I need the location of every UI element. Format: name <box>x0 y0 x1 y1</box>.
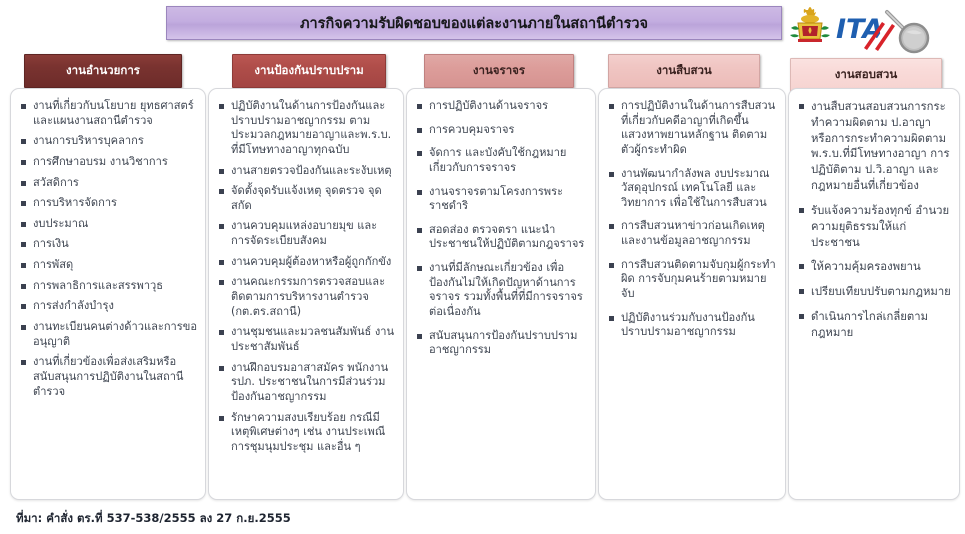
magnifying-glass-icon <box>887 12 928 52</box>
list-item: งานที่เกี่ยวข้องเพื่อส่งเสริมหรือสนับสนุ… <box>19 355 197 399</box>
column-header-inquiry: งานสอบสวน <box>790 58 942 92</box>
list-item: งานสืบสวนสอบสวนการกระทำความผิดตาม ป.อาญา… <box>797 99 951 194</box>
list-item: สนับสนุนการป้องกันปราบปรามอาชญากรรม <box>415 329 587 358</box>
list-item: งานควบคุมผู้ต้องหาหรือผู้ถูกกักขัง <box>217 255 395 270</box>
responsibility-list: การปฏิบัติงานในด้านการสืบสวนที่เกี่ยวกับ… <box>599 89 785 357</box>
list-item: งานพัฒนากำลังพล งบประมาณ วัสดุอุปกรณ์ เท… <box>607 167 777 211</box>
column-body-administration: งานที่เกี่ยวกับนโยบาย ยุทธศาสตร์และแผนงา… <box>10 88 206 500</box>
list-item: ปฏิบัติงานในด้านการป้องกันและปราบปรามอาช… <box>217 99 395 158</box>
list-item: สวัสดิการ <box>19 176 197 191</box>
responsibility-list: การปฏิบัติงานด้านจราจรการควบคุมจราจรจัดก… <box>407 89 595 375</box>
list-item: การปฏิบัติงานในด้านการสืบสวนที่เกี่ยวกับ… <box>607 99 777 158</box>
column-header-label: งานอำนวยการ <box>66 62 140 80</box>
page-title: ภารกิจความรับผิดชอบของแต่ละงานภายในสถานี… <box>300 12 648 35</box>
list-item: งานฝึกอบรมอาสาสมัคร พนักงาน รปภ. ประชาชน… <box>217 361 395 405</box>
responsibility-list: ปฏิบัติงานในด้านการป้องกันและปราบปรามอาช… <box>209 89 403 468</box>
list-item: การศึกษาอบรม งานวิชาการ <box>19 155 197 170</box>
list-item: การพัสดุ <box>19 258 197 273</box>
list-item: งานที่เกี่ยวกับนโยบาย ยุทธศาสตร์และแผนงา… <box>19 99 197 128</box>
thai-royal-crest-icon <box>790 7 830 42</box>
list-item: งบประมาณ <box>19 217 197 232</box>
list-item: งานการบริหารบุคลากร <box>19 134 197 149</box>
list-item: งานควบคุมแหล่งอบายมุข และการจัดระเบียบสั… <box>217 219 395 248</box>
column-header-label: งานสืบสวน <box>656 62 712 80</box>
list-item: รับแจ้งความร้องทุกข์ อำนวยความยุติธรรมให… <box>797 203 951 250</box>
list-item: งานสายตรวจป้องกันและระงับเหตุ <box>217 164 395 179</box>
list-item: ปฏิบัติงานร่วมกับงานป้องกันปราบปรามอาชญา… <box>607 311 777 340</box>
list-item: เปรียบเทียบปรับตามกฎหมาย <box>797 284 951 300</box>
list-item: การพลาธิการและสรรพาวุธ <box>19 279 197 294</box>
column-header-traffic: งานจราจร <box>424 54 574 88</box>
list-item: งานที่มีลักษณะเกี่ยวข้อง เพื่อป้องกันไม่… <box>415 261 587 320</box>
list-item: การส่งกำลังบำรุง <box>19 299 197 314</box>
infographic-root: ภารกิจความรับผิดชอบของแต่ละงานภายในสถานี… <box>0 0 965 534</box>
column-header-label: งานป้องกันปราบปราม <box>254 62 363 80</box>
column-body-traffic: การปฏิบัติงานด้านจราจรการควบคุมจราจรจัดก… <box>406 88 596 500</box>
column-body-crime-prevention: ปฏิบัติงานในด้านการป้องกันและปราบปรามอาช… <box>208 88 404 500</box>
list-item: จัดการ และบังคับใช้กฎหมายเกี่ยวกับการจรา… <box>415 146 587 175</box>
list-item: การควบคุมจราจร <box>415 123 587 138</box>
ita-logo: ITA <box>786 2 961 54</box>
list-item: งานจราจรตามโครงการพระราชดำริ <box>415 185 587 214</box>
list-item: การสืบสวนติดตามจับกุมผู้กระทำผิด การจับก… <box>607 258 777 302</box>
column-body-inquiry: งานสืบสวนสอบสวนการกระทำความผิดตาม ป.อาญา… <box>788 88 960 500</box>
source-note: ที่มา: คำสั่ง ตร.ที่ 537-538/2555 ลง 27 … <box>16 510 291 528</box>
list-item: ดำเนินการไกล่เกลี่ยตามกฎหมาย <box>797 309 951 341</box>
column-header-administration: งานอำนวยการ <box>24 54 182 88</box>
responsibility-list: งานที่เกี่ยวกับนโยบาย ยุทธศาสตร์และแผนงา… <box>11 89 205 413</box>
page-title-banner: ภารกิจความรับผิดชอบของแต่ละงานภายในสถานี… <box>166 6 782 40</box>
column-header-label: งานสอบสวน <box>835 66 898 84</box>
list-item: รักษาความสงบเรียบร้อย กรณีมีเหตุพิเศษต่า… <box>217 411 395 455</box>
column-header-label: งานจราจร <box>473 62 525 80</box>
responsibility-list: งานสืบสวนสอบสวนการกระทำความผิดตาม ป.อาญา… <box>789 89 959 358</box>
list-item: จัดตั้งจุดรับแจ้งเหตุ จุดตรวจ จุดสกัด <box>217 184 395 213</box>
list-item: ให้ความคุ้มครองพยาน <box>797 259 951 275</box>
column-body-investigation: การปฏิบัติงานในด้านการสืบสวนที่เกี่ยวกับ… <box>598 88 786 500</box>
list-item: สอดส่อง ตรวจตรา แนะนำประชาชนให้ปฏิบัติตา… <box>415 223 587 252</box>
list-item: การสืบสวนหาข่าวก่อนเกิดเหตุ และงานข้อมูล… <box>607 219 777 248</box>
column-header-investigation: งานสืบสวน <box>608 54 760 88</box>
list-item: งานชุมชนและมวลชนสัมพันธ์ งานประชาสัมพันธ… <box>217 325 395 354</box>
list-item: การบริหารจัดการ <box>19 196 197 211</box>
list-item: การเงิน <box>19 237 197 252</box>
column-header-crime-prevention: งานป้องกันปราบปราม <box>232 54 386 88</box>
list-item: งานคณะกรรมการตรวจสอบและติดตามการบริหารงา… <box>217 275 395 319</box>
list-item: การปฏิบัติงานด้านจราจร <box>415 99 587 114</box>
list-item: งานทะเบียนคนต่างด้าวและการขออนุญาติ <box>19 320 197 349</box>
